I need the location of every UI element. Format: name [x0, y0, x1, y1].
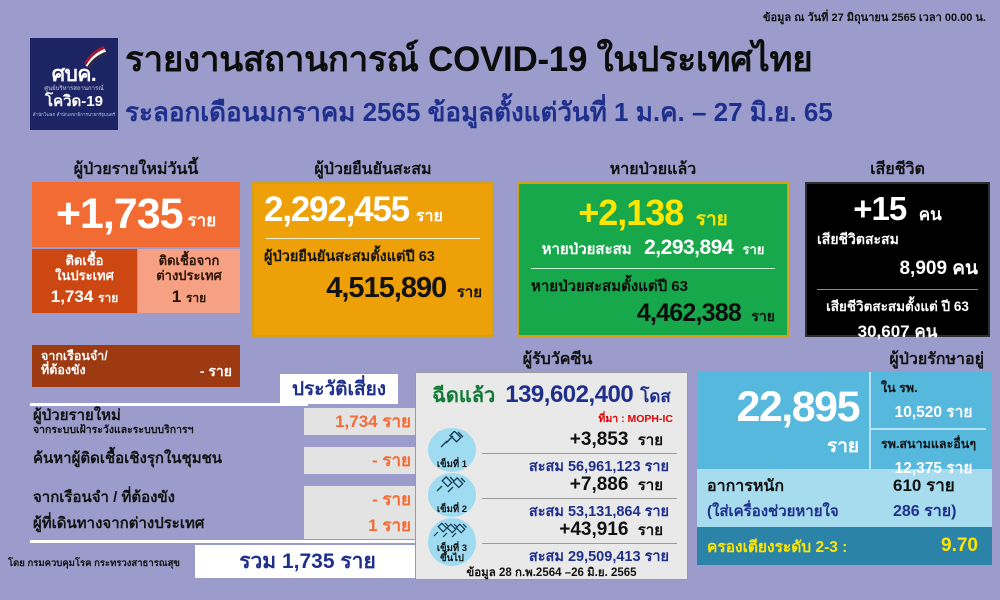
confirmed-since-label: ผู้ป่วยยืนยันสะสมตั้งแต่ปี 63 — [264, 245, 482, 268]
recovered-value-row: +2,138 ราย — [531, 192, 775, 234]
recovered-cum-label: หายป่วยสะสม — [542, 241, 632, 258]
recovered-divider — [531, 268, 775, 269]
domestic-label-2: ในประเทศ — [32, 269, 137, 284]
risk-history-top-rule — [30, 403, 308, 406]
hospitalized-title: ผู้ป่วยรักษาอยู่ — [700, 352, 992, 368]
confirmed-title: ผู้ป่วยยืนยันสะสม — [252, 162, 494, 178]
syringe-icon — [439, 431, 465, 449]
credit-text: โดย กรมควบคุมโรค กระทรวงสาธารณสุข — [8, 556, 180, 571]
prison-value: - ราย — [200, 361, 232, 383]
dose-3-new-row: +43,916 ราย — [482, 518, 677, 542]
prison-cases-card: จากเรือนจำ/ ที่ต้องขัง - ราย — [32, 345, 240, 387]
risk-row-new-cases: ผู้ป่วยรายใหม่ จากระบบเฝ้าระวังและระบบบร… — [30, 408, 420, 439]
severe-label: อาการหนัก — [707, 474, 784, 499]
dose-3-new-value: +43,916 — [559, 519, 628, 540]
logo-line-2: ศูนย์บริหารสถานการณ์ — [44, 86, 104, 93]
bed-occupancy-section: ครองเตียงระดับ 2-3 : 9.70 — [697, 527, 992, 565]
deaths-since-value: 30,607 คน — [817, 318, 978, 345]
recovered-cum-unit: ราย — [743, 242, 765, 257]
vaccine-dose-row-2: เข็มที่ 2 +7,886 ราย สะสม 53,131,864 ราย — [424, 473, 679, 517]
risk-row-label: ค้นหาผู้ติดเชื้อเชิงรุกในชุมชน — [33, 451, 222, 467]
recovered-title: หายป่วยแล้ว — [517, 162, 789, 178]
imported-cases-card: ติดเชื้อจาก ต่างประเทศ 1 ราย — [138, 249, 240, 313]
domestic-unit: ราย — [98, 291, 118, 305]
domestic-cases-card: ติดเชื้อ ในประเทศ 1,734 ราย — [32, 249, 137, 313]
domestic-value: 1,734 — [51, 287, 94, 306]
dose-1-new-row: +3,853 ราย — [482, 428, 677, 452]
dose-1-label: เข็มที่ 1 — [437, 460, 467, 470]
severe-row: อาการหนัก 610 ราย — [707, 472, 982, 499]
dose-1-divider — [482, 453, 677, 454]
confirmed-unit: ราย — [416, 204, 443, 229]
ventilator-value: 286 ราย) — [887, 499, 982, 524]
logo-line-4: สำนักโฆษก สำนักเลขาธิการนายกรัฐมนตรี — [33, 112, 115, 117]
recovered-unit: ราย — [696, 209, 728, 230]
vaccine-title: ผู้รับวัคซีน — [425, 352, 690, 368]
confirmed-cumulative-card: 2,292,455 ราย ผู้ป่วยยืนยันสะสมตั้งแต่ปี… — [252, 182, 494, 337]
vaccine-card: ฉีดแล้ว 139,602,400 โดส ที่มา : MOPH-IC … — [415, 372, 688, 580]
logo-line-3: โควิด-19 — [45, 94, 103, 111]
vaccine-dose-row-3: เข็มที่ 3 ขึ้นไป +43,916 ราย สะสม 29,509… — [424, 518, 679, 562]
dose-3-label: เข็มที่ 3 ขึ้นไป — [437, 544, 467, 564]
risk-history-total: รวม 1,735 ราย — [195, 545, 420, 578]
prison-label: จากเรือนจำ/ ที่ต้องขัง — [41, 349, 108, 378]
hospitalized-total-unit: ราย — [827, 431, 859, 461]
deaths-value: +15 — [853, 190, 906, 227]
deaths-cum-label: เสียชีวิตสะสม — [817, 229, 978, 251]
deaths-cum-value: 8,909 คน — [817, 253, 978, 283]
risk-row-label: ผู้ป่วยรายใหม่ จากระบบเฝ้าระวังและระบบบร… — [33, 408, 194, 436]
deaths-value-row: +15 คน — [817, 190, 978, 228]
prison-label-2: ที่ต้องขัง — [41, 363, 86, 377]
deaths-title: เสียชีวิต — [805, 162, 990, 178]
dose-3-badge: เข็มที่ 3 ขึ้นไป — [428, 518, 476, 566]
in-hospital-label: ใน รพ. — [881, 378, 986, 398]
severe-value: 610 ราย — [887, 472, 982, 499]
risk-row-value: 1,734 ราย — [304, 408, 420, 435]
ventilator-label: (ใส่เครื่องช่วยหายใจ — [707, 499, 839, 523]
risk-row-overseas: ผู้ที่เดินทางจากต่างประเทศ 1 ราย — [30, 512, 420, 543]
risk-row-active-surveillance: ค้นหาผู้ติดเชื้อเชิงรุกในชุมชน - ราย — [30, 447, 420, 478]
dose-3-label-2: ขึ้นไป — [440, 553, 464, 564]
risk-row-value: 1 ราย — [304, 512, 420, 539]
vaccine-total-unit: โดส — [640, 383, 671, 410]
recovered-cum-value: 2,293,894 — [644, 236, 733, 259]
deaths-card: +15 คน เสียชีวิตสะสม 8,909 คน เสียชีวิตส… — [805, 182, 990, 337]
imported-value: 1 — [172, 287, 181, 306]
risk-row-value: - ราย — [304, 486, 420, 513]
vaccine-source: ที่มา : MOPH-IC — [424, 410, 679, 427]
imported-label-2: ต่างประเทศ — [138, 269, 240, 284]
syringe-icon — [436, 476, 468, 494]
recovered-card: +2,138 ราย หายป่วยสะสม 2,293,894 ราย หาย… — [517, 182, 789, 337]
recovered-cumulative-row: หายป่วยสะสม 2,293,894 ราย — [531, 236, 775, 261]
severe-cases-section: อาการหนัก 610 ราย (ใส่เครื่องช่วยหายใจ 2… — [697, 469, 992, 527]
dose-2-new-row: +7,886 ราย — [482, 473, 677, 497]
risk-row-label: จากเรือนจำ / ที่ต้องขัง — [33, 490, 175, 506]
recovered-since-label: หายป่วยสะสมตั้งแต่ปี 63 — [531, 274, 775, 298]
vaccine-total-row: ฉีดแล้ว 139,602,400 โดส — [424, 379, 679, 411]
imported-value-row: 1 ราย — [138, 287, 240, 308]
hospitalized-total-value: 22,895 — [736, 386, 859, 428]
field-hospital-label: รพ.สนามและอื่นๆ — [881, 434, 986, 454]
hospitalized-top: 22,895 ราย ใน รพ. 10,520 ราย รพ.สนามและอ… — [697, 372, 992, 469]
new-cases-value-card: +1,735 ราย — [32, 182, 240, 247]
dashboard-root: ศบค. ศูนย์บริหารสถานการณ์ โควิด-19 สำนัก… — [0, 0, 1000, 600]
new-cases-title: ผู้ป่วยรายใหม่วันนี้ — [32, 162, 240, 178]
hospitalized-card: 22,895 ราย ใน รพ. 10,520 ราย รพ.สนามและอ… — [697, 372, 992, 580]
risk-row-label-sub: จากระบบเฝ้าระวังและระบบบริการฯ — [33, 425, 194, 436]
dose-3-divider — [482, 543, 677, 544]
dose-2-divider — [482, 498, 677, 499]
recovered-value: +2,138 — [578, 192, 683, 233]
thai-flag-icon — [82, 46, 108, 72]
dose-1-new-unit: ราย — [638, 432, 663, 449]
deaths-divider — [817, 289, 978, 290]
confirmed-since-row: 4,515,890 ราย — [264, 272, 482, 305]
bed-occupancy-label: ครองเตียงระดับ 2-3 : — [707, 534, 847, 559]
imported-label-1: ติดเชื้อจาก — [138, 254, 240, 269]
confirmed-value-row: 2,292,455 ราย — [264, 190, 482, 230]
ventilator-row: (ใส่เครื่องช่วยหายใจ 286 ราย) — [707, 499, 982, 524]
dose-1-new-value: +3,853 — [570, 429, 629, 450]
risk-history-title: ประวัติเสี่ยง — [280, 374, 398, 404]
prison-label-1: จากเรือนจำ/ — [41, 349, 108, 363]
dose-3-values: +43,916 ราย สะสม 29,509,413 ราย — [482, 518, 677, 568]
new-cases-unit: ราย — [188, 207, 217, 234]
deaths-since-label: เสียชีวิตสะสมตั้งแต่ ปี 63 — [817, 295, 978, 317]
data-timestamp: ข้อมูล ณ วันที่ 27 มิถุนายน 2565 เวลา 00… — [763, 8, 986, 26]
bed-occupancy-value: 9.70 — [941, 535, 978, 557]
in-hospital-value: 10,520 ราย — [881, 399, 986, 424]
page-subtitle: ระลอกเดือนมกราคม 2565 ข้อมูลตั้งแต่วันที… — [125, 98, 985, 127]
new-cases-value: +1,735 — [56, 190, 183, 239]
dose-1-badge: เข็มที่ 1 — [428, 428, 476, 472]
risk-row-label-main: ผู้ที่เดินทางจากต่างประเทศ — [33, 515, 204, 532]
domestic-value-row: 1,734 ราย — [32, 287, 137, 308]
page-title: รายงานสถานการณ์ COVID-19 ในประเทศไทย — [125, 42, 975, 79]
recovered-since-unit: ราย — [751, 308, 775, 324]
risk-row-value: - ราย — [304, 447, 420, 474]
syringe-icon — [433, 521, 471, 539]
confirmed-value: 2,292,455 — [264, 190, 409, 230]
sbc-logo: ศบค. ศูนย์บริหารสถานการณ์ โควิด-19 สำนัก… — [30, 38, 118, 130]
dose-2-new-unit: ราย — [638, 477, 663, 494]
vaccine-dose-row-1: เข็มที่ 1 +3,853 ราย สะสม 56,961,123 ราย — [424, 428, 679, 472]
risk-row-label-main: ค้นหาผู้ติดเชื้อเชิงรุกในชุมชน — [33, 450, 222, 467]
vaccine-total-value: 139,602,400 — [505, 381, 633, 409]
hospitalized-total: 22,895 ราย — [697, 372, 869, 469]
imported-unit: ราย — [186, 291, 206, 305]
vaccine-total-label: ฉีดแล้ว — [432, 379, 495, 411]
confirmed-since-value: 4,515,890 — [326, 272, 446, 304]
deaths-unit: คน — [919, 205, 942, 224]
confirmed-since-unit: ราย — [457, 284, 482, 301]
risk-history-bottom-rule — [30, 540, 420, 543]
dose-3-cum-value: สะสม 29,509,413 ราย — [482, 545, 677, 568]
hospitalized-breakdown-divider — [871, 428, 986, 430]
recovered-since-value: 4,462,388 — [637, 299, 741, 327]
dose-2-label: เข็มที่ 2 — [437, 505, 467, 515]
recovered-since-row: 4,462,388 ราย — [531, 299, 775, 328]
risk-row-label-main: จากเรือนจำ / ที่ต้องขัง — [33, 489, 175, 506]
dose-2-values: +7,886 ราย สะสม 53,131,864 ราย — [482, 473, 677, 523]
dose-2-new-value: +7,886 — [570, 474, 629, 495]
risk-row-label: ผู้ที่เดินทางจากต่างประเทศ — [33, 516, 204, 532]
confirmed-divider — [266, 238, 480, 239]
dose-3-new-unit: ราย — [638, 522, 663, 539]
hospitalized-breakdown: ใน รพ. 10,520 ราย รพ.สนามและอื่นๆ 12,375… — [869, 372, 992, 469]
domestic-label-1: ติดเชื้อ — [32, 254, 137, 269]
dose-2-badge: เข็มที่ 2 — [428, 473, 476, 517]
risk-row-label-main: ผู้ป่วยรายใหม่ — [33, 407, 121, 424]
dose-1-values: +3,853 ราย สะสม 56,961,123 ราย — [482, 428, 677, 478]
